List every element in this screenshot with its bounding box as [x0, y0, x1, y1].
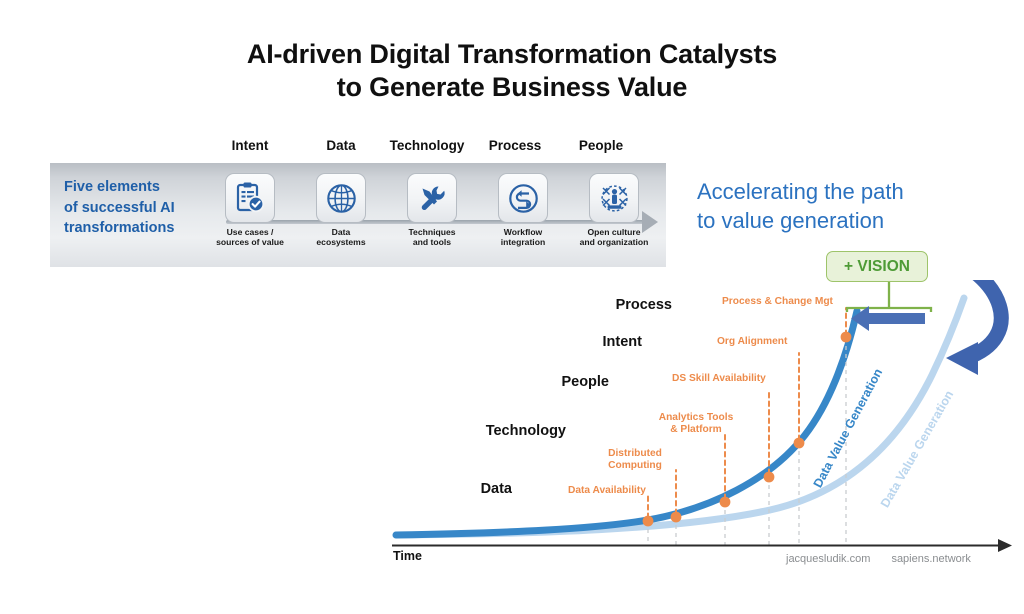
caption-line-1: Open culture	[576, 227, 652, 237]
chart-x-axis	[392, 539, 1012, 552]
heading-line-1: Five elements	[64, 177, 214, 198]
heading-line-2: of successful AI	[64, 198, 214, 219]
footer-links: jacquesludik.com sapiens.network	[786, 553, 989, 565]
heading-line-3: transformations	[64, 218, 214, 239]
milestone-line-2: Computing	[594, 460, 676, 472]
five-elements-diagram: Intent Data Technology Process People Fi…	[50, 136, 666, 268]
fe-header-intent: Intent	[202, 138, 298, 153]
caption-line-2: and tools	[394, 237, 470, 247]
milestone-line-1: Analytics Tools	[652, 412, 740, 424]
fe-item-technology[interactable]: Techniques and tools	[394, 173, 470, 248]
fe-caption-intent: Use cases / sources of value	[212, 227, 288, 248]
fe-caption-data: Data ecosystems	[303, 227, 379, 248]
caption-line-1: Workflow	[485, 227, 561, 237]
stage-label-data: Data	[452, 481, 512, 497]
wrench-icon	[407, 173, 457, 223]
organization-icon	[589, 173, 639, 223]
stage-label-technology: Technology	[460, 423, 566, 439]
caption-line-2: integration	[485, 237, 561, 247]
accelerating-line-1: Accelerating the path	[697, 177, 1007, 206]
shift-left-arrow-icon	[851, 306, 925, 331]
vision-badge[interactable]: + VISION	[826, 251, 928, 282]
milestone-label-data-availability: Data Availability	[568, 485, 646, 497]
fe-header-process: Process	[465, 138, 565, 153]
clipboard-check-icon	[225, 173, 275, 223]
stage-label-intent: Intent	[580, 334, 642, 350]
five-elements-header-row: Intent Data Technology Process People	[50, 136, 666, 162]
five-elements-band: Five elements of successful AI transform…	[50, 163, 666, 267]
milestone-line-2: & Platform	[652, 424, 740, 436]
caption-line-2: sources of value	[212, 237, 288, 247]
milestone-label-process-change-mgt: Process & Change Mgt	[722, 296, 833, 308]
caption-line-1: Data	[303, 227, 379, 237]
milestone-label-ds-skill-availability: DS Skill Availability	[672, 373, 766, 385]
page-title-line-2: to Generate Business Value	[0, 71, 1024, 104]
five-elements-heading: Five elements of successful AI transform…	[64, 177, 214, 239]
workflow-arrows-icon	[498, 173, 548, 223]
footer-link-jacquesludik[interactable]: jacquesludik.com	[786, 553, 870, 565]
stage-label-people: People	[543, 374, 609, 390]
fe-header-people: People	[551, 138, 651, 153]
caption-line-1: Use cases /	[212, 227, 288, 237]
fe-caption-technology: Techniques and tools	[394, 227, 470, 248]
caption-line-2: and organization	[576, 237, 652, 247]
accelerating-headline: Accelerating the path to value generatio…	[697, 177, 1007, 236]
caption-line-2: ecosystems	[303, 237, 379, 247]
milestone-line-1: Distributed	[594, 448, 676, 460]
fe-item-people[interactable]: Open culture and organization	[576, 173, 652, 248]
vision-bracket	[847, 282, 931, 312]
globe-icon	[316, 173, 366, 223]
loop-arrow-icon	[936, 280, 1001, 375]
fe-item-process[interactable]: Workflow integration	[485, 173, 561, 248]
fe-item-data[interactable]: Data ecosystems	[303, 173, 379, 248]
fe-caption-people: Open culture and organization	[576, 227, 652, 248]
fe-item-intent[interactable]: Use cases / sources of value	[212, 173, 288, 248]
footer-link-sapiens[interactable]: sapiens.network	[891, 553, 971, 565]
x-axis-label-time: Time	[393, 549, 422, 563]
fe-caption-process: Workflow integration	[485, 227, 561, 248]
page-title: AI-driven Digital Transformation Catalys…	[0, 38, 1024, 105]
milestone-label-org-alignment: Org Alignment	[717, 336, 787, 348]
accelerating-line-2: to value generation	[697, 206, 1007, 235]
page-title-line-1: AI-driven Digital Transformation Catalys…	[0, 38, 1024, 71]
stage-label-process: Process	[600, 297, 672, 313]
milestone-label-analytics-tools: Analytics Tools & Platform	[652, 412, 740, 436]
milestone-label-distributed-computing: Distributed Computing	[594, 448, 676, 472]
caption-line-1: Techniques	[394, 227, 470, 237]
